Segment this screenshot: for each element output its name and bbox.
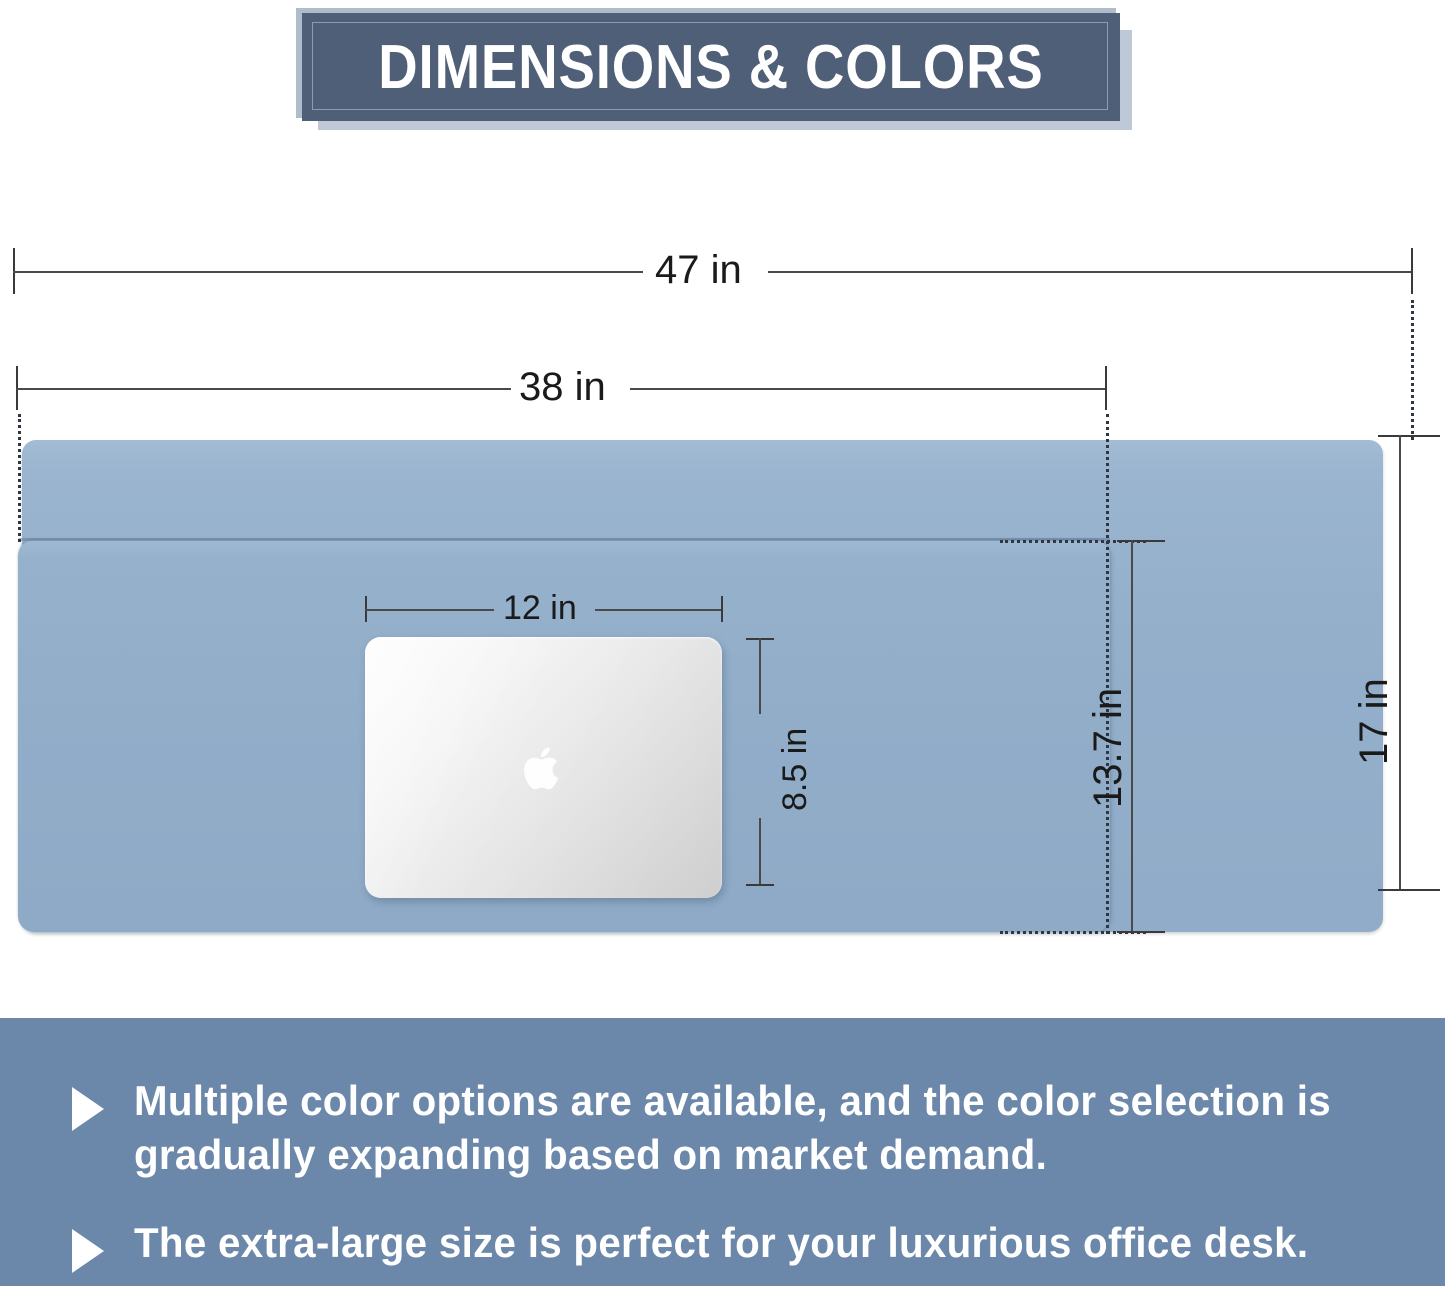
feature-text: Multiple color options are available, an… xyxy=(134,1074,1342,1182)
triangle-bullet-icon xyxy=(72,1087,104,1131)
dim-8-5in-bottom-tick xyxy=(746,884,774,886)
apple-logo-icon xyxy=(521,740,567,795)
dim-8-5in-line-bottom xyxy=(759,818,761,885)
dim-12in-line-left xyxy=(365,609,494,611)
dim-17in-line xyxy=(1399,435,1401,890)
dim-38in-label: 38 in xyxy=(519,365,606,410)
dim-47in-label: 47 in xyxy=(655,248,742,293)
dim-13-7in-label: 13.7 in xyxy=(1086,688,1131,808)
desk-mat-seam xyxy=(18,538,1110,541)
dim-8-5in-label: 8.5 in xyxy=(776,728,815,811)
dim-13-7in-bottom-tick xyxy=(1117,931,1165,933)
dim-47in-right-leader xyxy=(1411,300,1414,440)
dim-38in-line-left xyxy=(16,388,511,390)
dim-12in-label: 12 in xyxy=(503,589,577,628)
list-item: The extra-large size is perfect for your… xyxy=(72,1216,1392,1273)
dim-17in-bottom-tick xyxy=(1378,889,1440,891)
dimensions-and-colors-infographic: DIMENSIONS & COLORS 47 in 38 in 17 in 13… xyxy=(0,0,1445,1293)
dim-17in-top-tick xyxy=(1378,435,1440,437)
dim-38in-right-leader xyxy=(1106,414,1109,934)
reference-laptop xyxy=(365,637,722,898)
page-title: DIMENSIONS & COLORS xyxy=(351,13,1071,121)
dim-47in-line-right xyxy=(768,271,1413,273)
feature-list: Multiple color options are available, an… xyxy=(72,1074,1392,1293)
header-banner: DIMENSIONS & COLORS xyxy=(0,0,1445,150)
dim-13-7in-line xyxy=(1131,540,1133,932)
dim-38in-right-tick xyxy=(1105,366,1107,410)
dim-17in-label: 17 in xyxy=(1352,678,1397,765)
dim-47in-line-left xyxy=(13,271,643,273)
dim-12in-line-right xyxy=(595,609,722,611)
dim-13-7in-top-tick xyxy=(1117,540,1165,542)
feature-text: The extra-large size is perfect for your… xyxy=(134,1216,1308,1270)
triangle-bullet-icon xyxy=(72,1229,104,1273)
list-item: Multiple color options are available, an… xyxy=(72,1074,1392,1182)
dim-47in-right-tick xyxy=(1411,248,1413,294)
dim-12in-right-tick xyxy=(721,596,723,622)
dim-38in-line-right xyxy=(630,388,1106,390)
dim-8-5in-line-top xyxy=(759,638,761,714)
feature-band: Multiple color options are available, an… xyxy=(0,1018,1445,1286)
dim-38in-left-leader xyxy=(18,414,21,542)
